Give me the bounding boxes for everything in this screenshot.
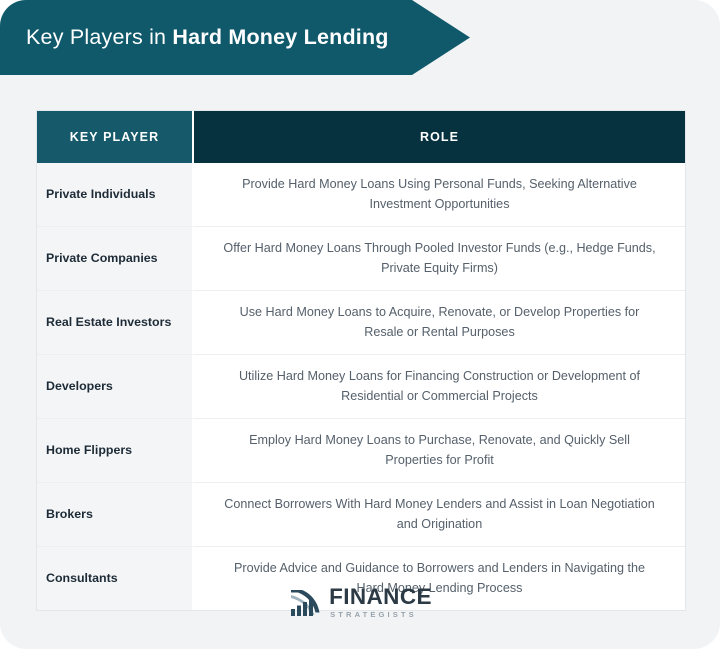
key-players-table: KEY PLAYER ROLE Private Individuals Prov… xyxy=(37,111,685,610)
cell-role: Employ Hard Money Loans to Purchase, Ren… xyxy=(192,418,685,482)
footer-logo: FINANCE STRATEGISTS xyxy=(0,586,720,618)
table-header: KEY PLAYER ROLE xyxy=(37,111,685,163)
cell-role: Use Hard Money Loans to Acquire, Renovat… xyxy=(192,290,685,354)
cell-key-player: Real Estate Investors xyxy=(37,290,192,354)
table-row: Brokers Connect Borrowers With Hard Mone… xyxy=(37,482,685,546)
header-banner: Key Players in Hard Money Lending xyxy=(0,0,470,75)
page-title-regular: Key Players in xyxy=(26,25,172,49)
logo-wordmark: FINANCE STRATEGISTS xyxy=(329,586,432,618)
table-header-row: KEY PLAYER ROLE xyxy=(37,111,685,163)
logo-secondary-text: STRATEGISTS xyxy=(329,611,432,619)
cell-role: Provide Hard Money Loans Using Personal … xyxy=(192,163,685,226)
finance-strategists-bar-chart-logo-icon xyxy=(288,587,322,618)
table-row: Home Flippers Employ Hard Money Loans to… xyxy=(37,418,685,482)
column-header-key-player: KEY PLAYER xyxy=(37,111,192,163)
table-row: Real Estate Investors Use Hard Money Loa… xyxy=(37,290,685,354)
cell-key-player: Home Flippers xyxy=(37,418,192,482)
table-body: Private Individuals Provide Hard Money L… xyxy=(37,163,685,610)
cell-role: Utilize Hard Money Loans for Financing C… xyxy=(192,354,685,418)
page-title: Key Players in Hard Money Lending xyxy=(0,25,389,50)
table-row: Private Companies Offer Hard Money Loans… xyxy=(37,226,685,290)
infographic-page: Key Players in Hard Money Lending KEY PL… xyxy=(0,0,720,649)
table-row: Developers Utilize Hard Money Loans for … xyxy=(37,354,685,418)
table-row: Private Individuals Provide Hard Money L… xyxy=(37,163,685,226)
cell-key-player: Private Companies xyxy=(37,226,192,290)
column-header-role: ROLE xyxy=(192,111,685,163)
cell-key-player: Developers xyxy=(37,354,192,418)
cell-key-player: Private Individuals xyxy=(37,163,192,226)
logo-primary-text: FINANCE xyxy=(329,586,432,609)
page-title-bold: Hard Money Lending xyxy=(172,25,388,49)
cell-role: Offer Hard Money Loans Through Pooled In… xyxy=(192,226,685,290)
cell-role: Connect Borrowers With Hard Money Lender… xyxy=(192,482,685,546)
cell-key-player: Brokers xyxy=(37,482,192,546)
